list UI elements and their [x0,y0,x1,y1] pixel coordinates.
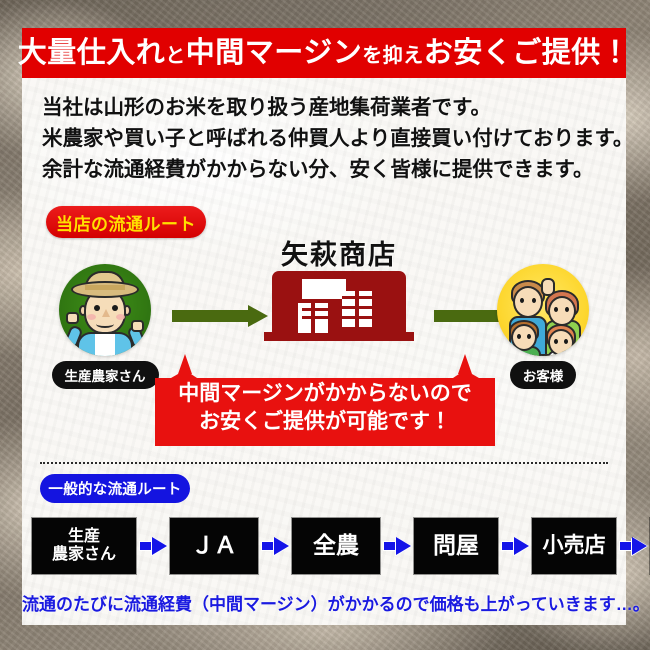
chain-arrow-3 [380,537,414,555]
boy-eye-left [517,334,521,339]
farmer-avatar [59,264,151,356]
farmer-nose [102,309,110,317]
header-banner: 大量仕入れと中間マージンを抑えお安くご提供！ [22,28,626,78]
intro-paragraph: 当社は山形のお米を取り扱う産地集荷業者です。 米農家や買い子と呼ばれる仲買人より… [42,92,612,185]
chain-step-label-2: 農家さん [52,546,116,564]
customer-label: お客様 [510,361,577,389]
arrow-head [514,537,529,555]
building-grid-7 [355,291,359,327]
farmer-shirt [95,334,115,356]
chain-arrow-5 [616,537,650,555]
customer-avatar [497,264,589,356]
farmer-eye-right [112,305,118,311]
header-title-part1: 大量仕入れ [18,37,166,69]
header-title-small2: を抑え [362,45,424,67]
farmer-node: 生産農家さん [50,264,160,389]
chain-step-4: 問屋 [414,518,498,574]
arrow-head [274,537,289,555]
header-title-small1: と [165,45,186,67]
farmer-cheek-right [116,314,125,320]
arrow-head [152,537,167,555]
intro-line-3: 余計な流通経費がかからない分、安く皆様に提供できます。 [42,154,612,185]
chain-step-3: 全農 [292,518,380,574]
chain-step-label: 問屋 [433,533,479,559]
building-grid-1 [302,316,332,319]
general-route-label: 一般的な流通ルート [40,474,190,503]
intro-line-2: 米農家や買い子と呼ばれる仲買人より直接買い付けております。 [42,123,612,154]
blue-arrow-icon [619,537,647,555]
mom-head [548,296,576,326]
farmer-hat-band [85,285,125,290]
chain-step-label: 小売店 [543,534,606,558]
girl-head [548,329,574,356]
chain-step-5: 小売店 [532,518,616,574]
store-node: 矢萩商店 [254,242,424,341]
chain-step-1: 生産農家さん [32,518,136,574]
chain-arrow-4 [498,537,532,555]
farmer-label: 生産農家さん [52,361,159,389]
chain-step-label: ＪＡ [191,533,237,559]
boy-eye-right [527,334,531,339]
blue-arrow-icon [139,537,167,555]
girl-eye-left [554,339,558,344]
arrow-shaft [172,310,250,322]
section-divider [40,462,608,464]
header-title-part2: 中間マージン [186,37,362,69]
callout-line-1: 中間マージンがかからないので [178,380,472,408]
chain-arrow-2 [258,537,292,555]
chain-arrow-1 [136,537,170,555]
dad-head [513,286,543,318]
chain-step-label: 全農 [313,533,359,559]
waving-hand-icon [541,278,555,296]
blue-arrow-icon [501,537,529,555]
farmer-fist-left [66,312,79,324]
mom-eye-left [554,307,558,312]
mom-eye-right [565,307,569,312]
arrow-head [396,537,411,555]
girl-eye-right [564,339,568,344]
chain-step-label: 生産 [68,528,100,546]
dad-eye-left [520,298,524,303]
bottom-note: 流通のたびに流通経費（中間マージン）がかかるので価格も上がっていきます…。 [22,590,626,615]
header-title: 大量仕入れと中間マージンを抑えお安くご提供！ [18,39,630,68]
blue-arrow-icon [383,537,411,555]
arrow-head [632,537,647,555]
callout-line-2: お安くご提供が可能です！ [199,408,451,436]
banner-stage: 大量仕入れと中間マージンを抑えお安くご提供！ 当社は山形のお米を取り扱う産地集荷… [0,0,650,650]
farmer-eye-left [94,305,100,311]
customer-node: お客様 [488,264,598,389]
store-name: 矢萩商店 [254,242,424,269]
building-grid-3 [311,303,315,333]
savings-callout: 中間マージンがかからないので お安くご提供が可能です！ [155,370,495,446]
farmer-cheek-left [87,314,96,320]
our-route-label: 当店の流通ルート [46,206,206,238]
farmer-mouth [96,320,114,328]
building-grid-2 [302,308,332,311]
building-window-left [302,279,346,299]
intro-line-1: 当社は山形のお米を取り扱う産地集荷業者です。 [42,92,612,123]
store-building-icon [264,265,414,341]
distribution-chain: 生産農家さんＪＡ全農問屋小売店お客様 [32,518,650,574]
callout-tail-left [178,354,192,374]
boy-head [511,324,537,351]
our-route-flow: 生産農家さん 矢萩商店 [22,248,626,378]
dad-eye-right [532,298,536,303]
blue-arrow-icon [261,537,289,555]
callout-tail-right [458,354,472,374]
chain-step-2: ＪＡ [170,518,258,574]
header-title-part3: お安くご提供！ [424,37,631,69]
farmer-fist-right [131,320,144,332]
building-base [264,332,414,341]
